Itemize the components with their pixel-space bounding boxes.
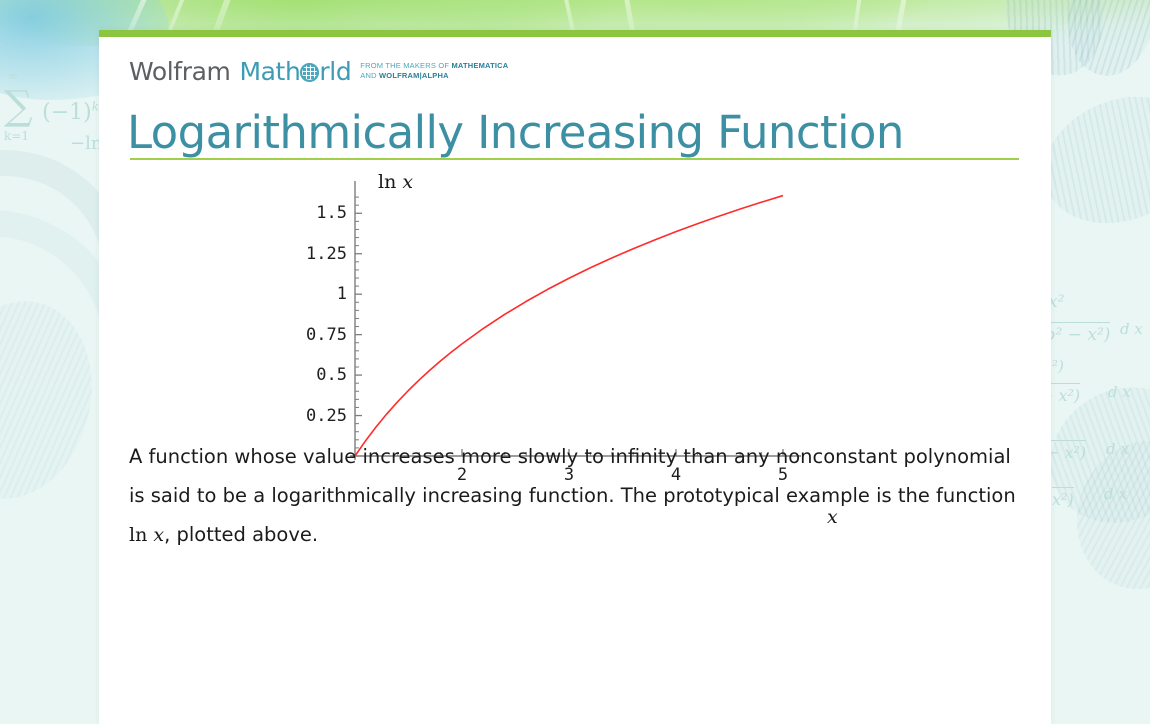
- globe-icon: [300, 63, 319, 82]
- logo-world-word: rld: [319, 59, 351, 84]
- bg-formula-right-8: d x: [1106, 440, 1129, 458]
- y-tick-label: 1: [337, 284, 347, 304]
- title-divider: [130, 158, 1019, 160]
- y-tick-label: 1.25: [306, 244, 347, 264]
- bg-formula-right-10: d x: [1104, 485, 1127, 503]
- logo-mathworld-text: Math rld: [239, 59, 351, 84]
- bg-formula-right-7: − x²): [1046, 440, 1086, 462]
- bg-formula-right-3: d x: [1120, 320, 1143, 338]
- inline-math-fn: ln: [129, 524, 147, 546]
- bg-formula-right-9: x²): [1052, 487, 1074, 509]
- bg-formula-right-6: d x: [1108, 383, 1131, 401]
- logo-tagline: From the makers of Mathematica and Wolfr…: [360, 61, 508, 84]
- logo-wolfram-text: Wolfram: [129, 59, 230, 84]
- tagline-line1-prefix: From the makers of: [360, 61, 451, 70]
- y-tick-label: 0.75: [306, 325, 347, 345]
- tagline-line2-prefix: and: [360, 71, 379, 80]
- inline-math-var: x: [153, 524, 164, 546]
- chart-series-line: [355, 196, 783, 456]
- logo-math-word: Math: [239, 59, 300, 84]
- tagline-mathematica: Mathematica: [451, 61, 508, 70]
- article-card: Wolfram Math rld From the makers of Math…: [99, 30, 1051, 724]
- body-paragraph-part1: A function whose value increases more sl…: [129, 445, 1016, 507]
- inline-math-lnx: ln x: [129, 524, 164, 546]
- site-logo[interactable]: Wolfram Math rld From the makers of Math…: [129, 59, 508, 84]
- y-tick-label: 1.5: [316, 203, 347, 223]
- body-paragraph-part2: , plotted above.: [164, 523, 318, 546]
- page-title: Logarithmically Increasing Function: [127, 109, 904, 156]
- bg-formula-sum-upper: ∞: [8, 69, 18, 83]
- article-body: A function whose value increases more sl…: [129, 437, 1019, 555]
- tagline-wolframalpha: Wolfram|Alpha: [379, 71, 449, 80]
- y-tick-label: 0.5: [316, 365, 347, 385]
- bg-formula-ln: −ln: [70, 133, 102, 154]
- bg-formula-right-4: ²): [1052, 357, 1064, 375]
- y-tick-label: 0.25: [306, 406, 347, 426]
- bg-formula-sum-lower: k=1: [4, 129, 29, 143]
